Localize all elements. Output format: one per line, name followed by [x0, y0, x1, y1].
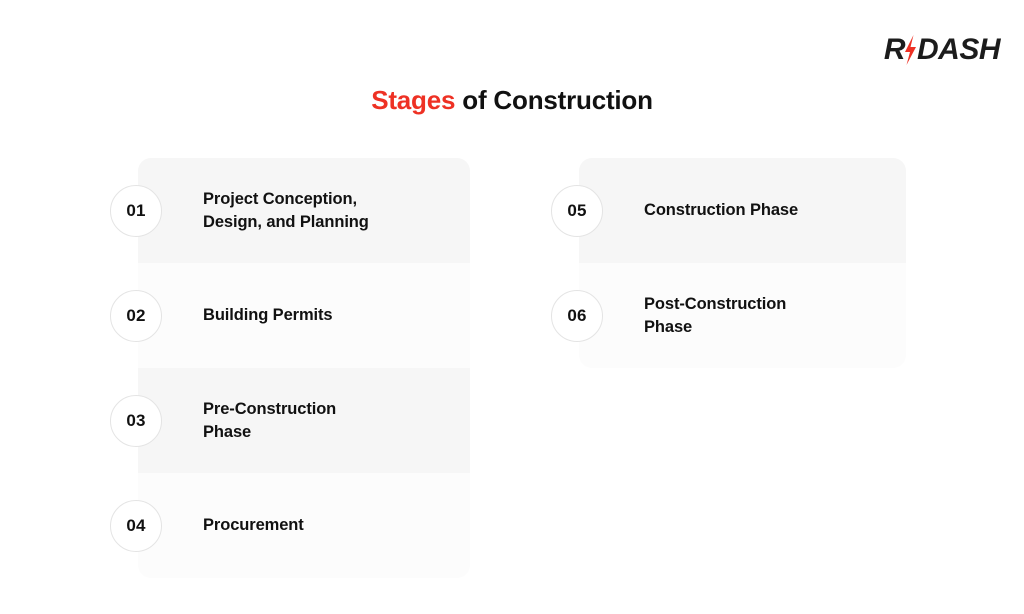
stage-item-06[interactable]: 06 Post-Construction Phase [551, 263, 906, 368]
stage-number-badge: 03 [110, 395, 162, 447]
right-column: 05 Construction Phase 06 Post-Constructi… [551, 158, 906, 368]
lightning-bolt-icon [903, 35, 918, 65]
stage-number-badge: 02 [110, 290, 162, 342]
stage-label: Procurement [203, 514, 304, 537]
stage-number-badge: 01 [110, 185, 162, 237]
stage-item-03[interactable]: 03 Pre-Construction Phase [110, 368, 470, 473]
brand-logo[interactable]: R DASH [884, 33, 1000, 67]
page-title-accent: Stages [371, 85, 455, 115]
stage-number-badge: 06 [551, 290, 603, 342]
stage-label: Building Permits [203, 304, 333, 327]
stage-label: Project Conception, Design, and Planning [203, 188, 369, 234]
stage-label: Pre-Construction Phase [203, 398, 336, 444]
logo-text-left: R [884, 35, 905, 65]
stage-label: Construction Phase [644, 199, 798, 222]
page-title: Stages of Construction [0, 84, 1024, 116]
stage-item-02[interactable]: 02 Building Permits [110, 263, 470, 368]
stage-item-01[interactable]: 01 Project Conception, Design, and Plann… [110, 158, 470, 263]
stage-number-badge: 04 [110, 500, 162, 552]
stage-number-badge: 05 [551, 185, 603, 237]
stage-panel [138, 473, 470, 578]
page-title-rest: of Construction [455, 85, 653, 115]
stage-item-05[interactable]: 05 Construction Phase [551, 158, 906, 263]
stage-item-04[interactable]: 04 Procurement [110, 473, 470, 578]
stages-container: 01 Project Conception, Design, and Plann… [0, 158, 1024, 588]
stage-label: Post-Construction Phase [644, 293, 786, 339]
logo-text-right: DASH [917, 35, 1000, 65]
left-column: 01 Project Conception, Design, and Plann… [110, 158, 470, 578]
